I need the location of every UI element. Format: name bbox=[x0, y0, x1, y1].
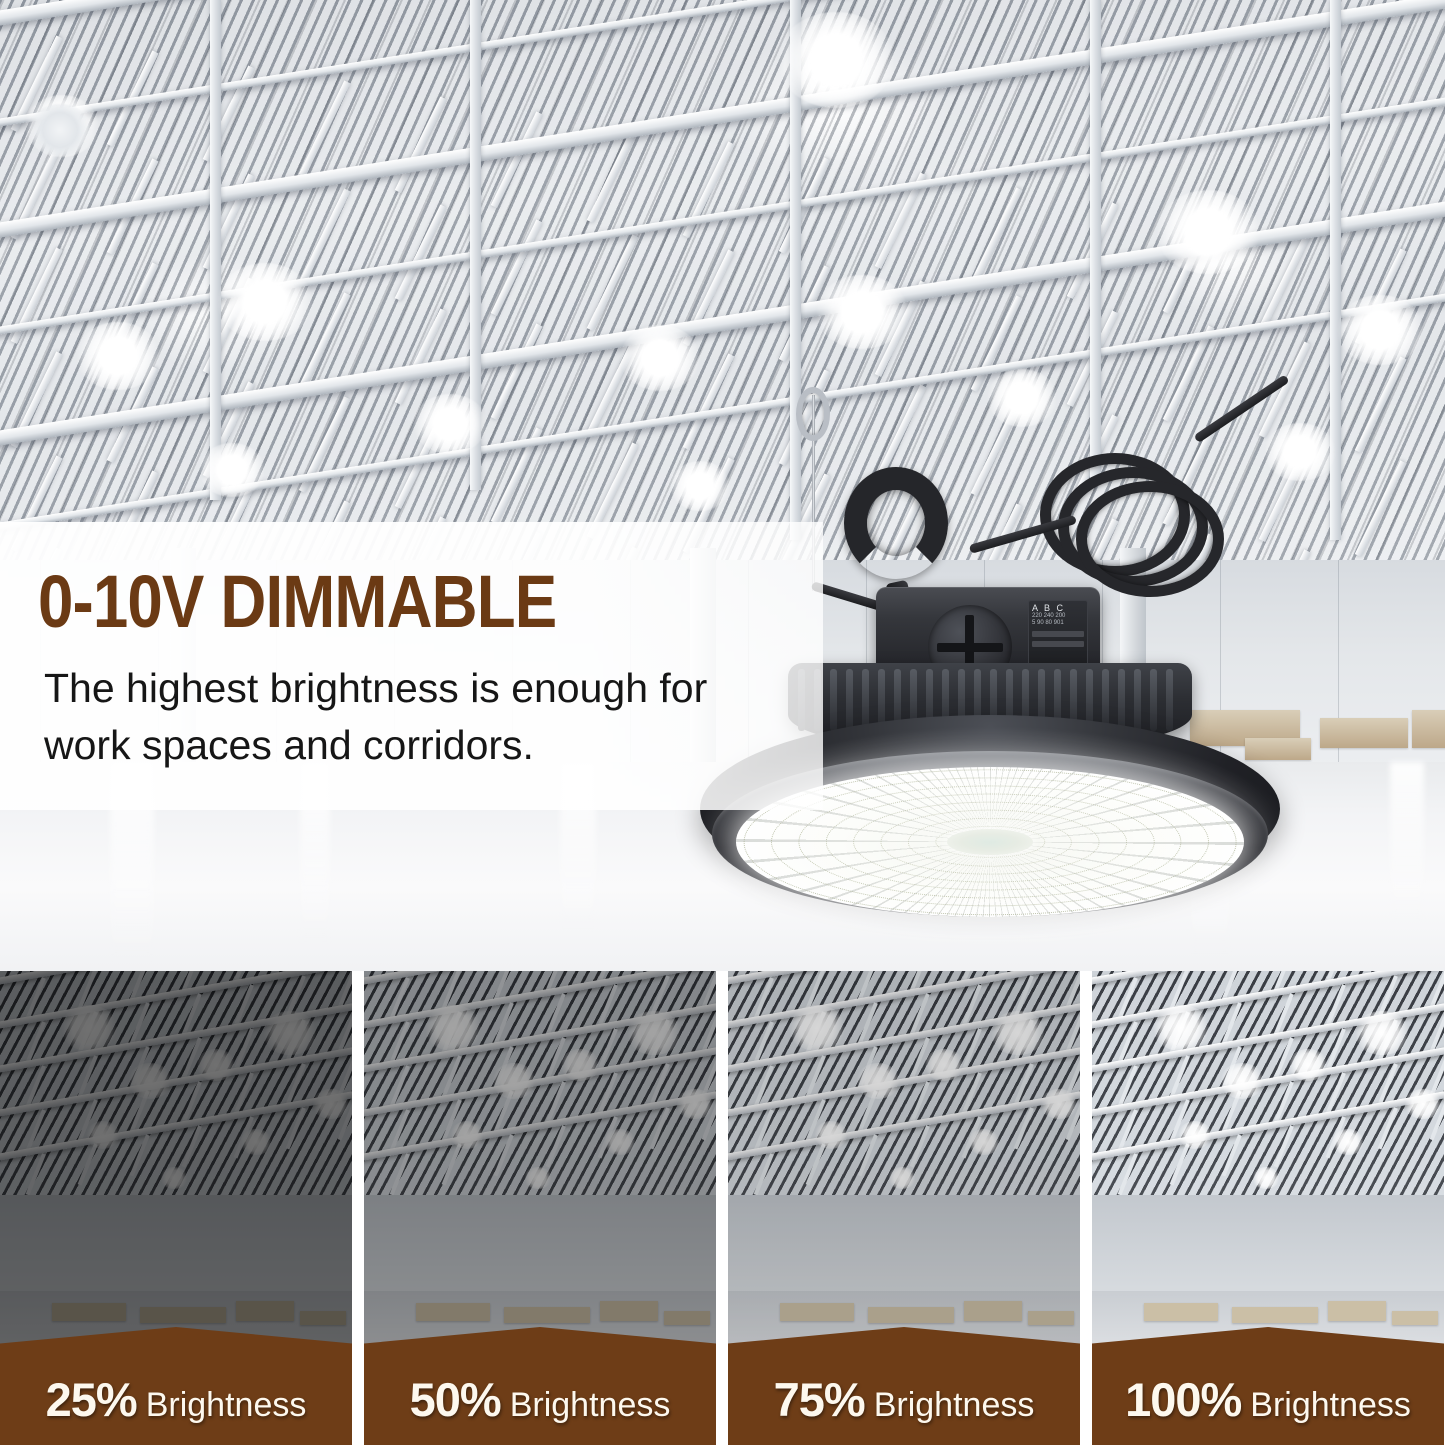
led-core bbox=[947, 829, 1033, 855]
fin bbox=[862, 669, 869, 731]
brightness-label: Brightness bbox=[146, 1386, 307, 1424]
brightness-thumbnail[interactable]: 100%Brightness bbox=[1092, 971, 1444, 1445]
dim-overlay bbox=[0, 971, 352, 1371]
brightness-caption: 75%Brightness bbox=[728, 1372, 1080, 1427]
fin bbox=[1166, 669, 1173, 731]
carabiner-icon bbox=[796, 387, 830, 441]
voltage-row-2: 5 90 80 901 bbox=[1032, 620, 1084, 627]
fin bbox=[1150, 669, 1157, 731]
fin bbox=[1118, 669, 1125, 731]
voltage-switch bbox=[1032, 631, 1084, 637]
brightness-caption: 25%Brightness bbox=[0, 1372, 352, 1427]
thumbnail-photo bbox=[0, 971, 352, 1371]
brightness-thumbnail[interactable]: 25%Brightness bbox=[0, 971, 352, 1445]
brightness-percent: 50% bbox=[410, 1373, 501, 1426]
page-subtitle: The highest brightness is enough for wor… bbox=[44, 660, 804, 773]
fin bbox=[846, 669, 853, 731]
mounting-hook bbox=[844, 467, 948, 579]
fin bbox=[1134, 669, 1141, 731]
brightness-comparison-strip: 25%Brightness 50%Brightness bbox=[0, 971, 1445, 1445]
brightness-percent: 100% bbox=[1125, 1373, 1241, 1426]
brightness-percent: 25% bbox=[46, 1373, 137, 1426]
brightness-percent: 75% bbox=[774, 1373, 865, 1426]
brightness-label: Brightness bbox=[1250, 1386, 1411, 1424]
floor-reflection bbox=[1390, 762, 1424, 922]
dim-overlay bbox=[728, 971, 1080, 1371]
thumbnail-photo bbox=[1092, 971, 1444, 1371]
brightness-label: Brightness bbox=[510, 1386, 671, 1424]
thumbnail-photo bbox=[728, 971, 1080, 1371]
brightness-thumbnail[interactable]: 75%Brightness bbox=[728, 971, 1080, 1445]
brightness-label: Brightness bbox=[874, 1386, 1035, 1424]
thumbnail-photo bbox=[364, 971, 716, 1371]
ceiling-lamp bbox=[777, 12, 895, 108]
ceiling-lamp-off bbox=[28, 104, 92, 156]
ceiling-lamp bbox=[217, 263, 313, 341]
support-post bbox=[210, 0, 221, 500]
ceiling-lamp bbox=[816, 275, 908, 349]
ceiling-lamp bbox=[620, 325, 700, 391]
ceiling-lamp bbox=[1337, 295, 1423, 365]
fin bbox=[830, 669, 837, 731]
brightness-caption: 50%Brightness bbox=[364, 1372, 716, 1427]
voltage-row-1: 220 240 200 bbox=[1032, 613, 1084, 620]
power-cord-coil bbox=[1076, 481, 1224, 597]
brightness-caption: 100%Brightness bbox=[1092, 1372, 1444, 1427]
dim-overlay bbox=[364, 971, 716, 1371]
hero-banner: A B C 220 240 200 5 90 80 901 0-10V DIMM… bbox=[0, 0, 1445, 971]
ceiling-lamp bbox=[76, 322, 160, 390]
voltage-switch bbox=[1032, 641, 1084, 647]
stored-goods bbox=[1412, 710, 1445, 748]
voltage-abc: A B C bbox=[1032, 603, 1084, 613]
ceiling-lamp bbox=[199, 443, 265, 497]
brightness-thumbnail[interactable]: 50%Brightness bbox=[364, 971, 716, 1445]
ceiling-lamp bbox=[1156, 190, 1260, 274]
page-title: 0-10V DIMMABLE bbox=[38, 559, 556, 644]
ceiling-lamp bbox=[413, 394, 487, 454]
